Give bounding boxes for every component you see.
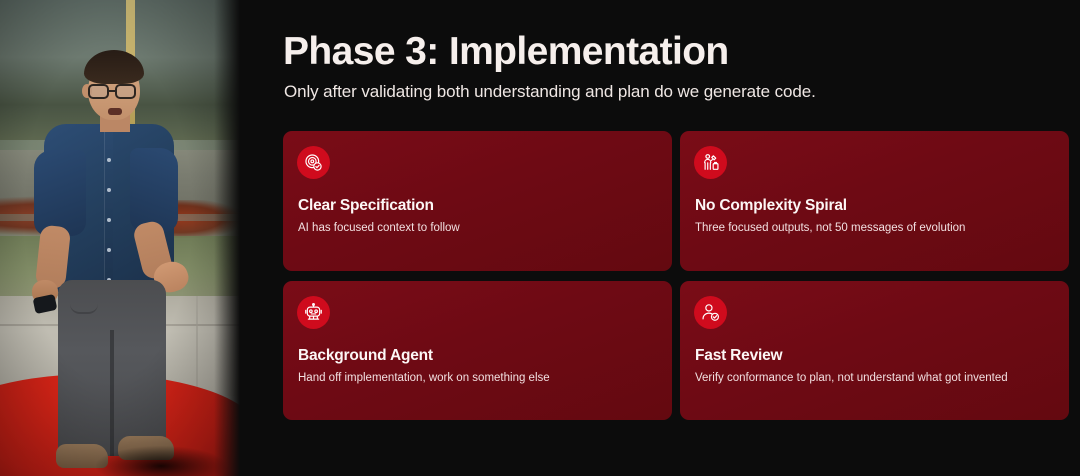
card-title: Fast Review — [695, 347, 782, 365]
card-description: Three focused outputs, not 50 messages o… — [695, 222, 965, 234]
robot-icon — [297, 296, 330, 329]
eyeglass-bridge — [109, 90, 115, 92]
user-check-icon — [694, 296, 727, 329]
person-tools-icon — [694, 146, 727, 179]
slide-content: Phase 3: Implementation Only after valid… — [240, 0, 1080, 476]
shirt-button — [107, 218, 111, 222]
trouser-leg-seam — [110, 330, 114, 456]
presenter-sleeve-left — [34, 150, 86, 236]
page-title: Phase 3: Implementation — [283, 30, 729, 74]
page-subtitle: Only after validating both understanding… — [284, 82, 816, 102]
trouser-pocket — [70, 298, 98, 314]
shirt-button — [107, 158, 111, 162]
card-description: AI has focused context to follow — [298, 222, 460, 234]
presenter-shadow — [96, 446, 226, 476]
presenter-remote-clicker — [33, 294, 58, 314]
presenter-figure — [26, 40, 216, 476]
presenter-video-feed — [0, 0, 240, 476]
presentation-screen: Phase 3: Implementation Only after valid… — [0, 0, 1080, 476]
card-description: Verify conformance to plan, not understa… — [695, 372, 1008, 384]
feature-card-fast-review[interactable]: Fast Review Verify conformance to plan, … — [680, 281, 1069, 421]
feature-card-background-agent[interactable]: Background Agent Hand off implementation… — [283, 281, 672, 421]
presenter-mouth — [108, 108, 122, 115]
card-title: Background Agent — [298, 347, 433, 365]
feature-card-clear-specification[interactable]: Clear Specification AI has focused conte… — [283, 131, 672, 271]
card-description: Hand off implementation, work on somethi… — [298, 372, 550, 384]
video-edge-fade — [214, 0, 240, 476]
presenter-hair — [84, 50, 144, 84]
eyeglass-lens-right — [115, 84, 136, 99]
eyeglass-lens-left — [88, 84, 109, 99]
presenter-shirt-placket — [104, 132, 113, 290]
target-check-icon — [297, 146, 330, 179]
presenter-sleeve-right — [130, 148, 178, 232]
card-title: Clear Specification — [298, 197, 434, 215]
feature-card-grid: Clear Specification AI has focused conte… — [283, 131, 1069, 420]
card-title: No Complexity Spiral — [695, 197, 847, 215]
shirt-button — [107, 248, 111, 252]
shirt-button — [107, 188, 111, 192]
feature-card-no-complexity-spiral[interactable]: No Complexity Spiral Three focused outpu… — [680, 131, 1069, 271]
